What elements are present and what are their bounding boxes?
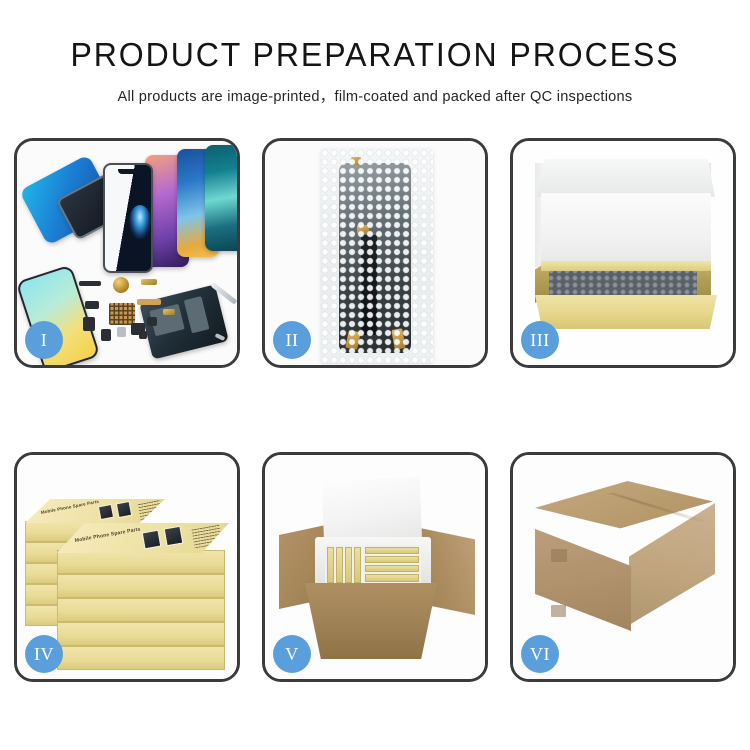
bubble-texture [321, 149, 433, 363]
stack-box-front-3 [57, 598, 225, 622]
box-thumb-rear-2 [116, 501, 133, 518]
stack-box-front-2 [57, 574, 225, 598]
step-badge-4: IV [25, 635, 63, 673]
stack-box-front-5 [57, 646, 225, 670]
camera-module [85, 301, 99, 309]
box-lid-flap [537, 159, 715, 197]
carton-tape-upper [551, 549, 567, 562]
button-cap [139, 331, 147, 339]
carton-front-face [535, 515, 631, 631]
process-step-5: V [262, 452, 488, 682]
packed-box-v-2 [336, 547, 343, 583]
packed-box-h-1 [365, 547, 419, 554]
box-thumb-rear-1 [98, 504, 114, 520]
page-subtitle: All products are image-printed，film-coat… [0, 85, 750, 106]
phone-parts-assortment-image: I [17, 141, 237, 365]
box-spec-lines-front [192, 525, 223, 549]
step-badge-6: VI [521, 635, 559, 673]
stack-box-front-1 [57, 550, 225, 574]
logic-board-chip [109, 303, 135, 325]
packed-box-v-1 [327, 547, 334, 583]
teal-wave-phone [205, 145, 237, 251]
bubble-wrap-bag [321, 149, 433, 363]
sealed-shipping-carton-image: VI [513, 455, 733, 679]
notch [118, 169, 138, 174]
step-badge-1: I [25, 321, 63, 359]
stacked-retail-boxes-image: Mobile Phone Spare Parts Mobile Phone Sp… [17, 455, 237, 679]
step-badge-5: V [273, 635, 311, 673]
packed-box-h-2 [365, 556, 419, 563]
stack-box-front-4 [57, 622, 225, 646]
product-preparation-infographic: PRODUCT PREPARATION PROCESS All products… [0, 0, 750, 750]
process-step-6: VI [510, 452, 736, 682]
taptic-coil [113, 277, 129, 293]
vibration-motor [83, 317, 95, 331]
stack-box-rear-lid: Mobile Phone Spare Parts [25, 499, 165, 523]
stack-box-front-lid: Mobile Phone Spare Parts [57, 523, 229, 553]
carton-body [305, 583, 437, 659]
packed-box-v-4 [354, 547, 361, 583]
process-step-grid: I II [14, 138, 736, 682]
packed-box-h-3 [365, 565, 419, 572]
speaker-module [79, 281, 101, 286]
header: PRODUCT PREPARATION PROCESS All products… [0, 0, 750, 106]
step-badge-3: III [521, 321, 559, 359]
box-thumb-front-1 [142, 530, 162, 550]
box-spec-lines-rear [138, 500, 163, 520]
box-print-label-rear: Mobile Phone Spare Parts [41, 499, 100, 515]
packed-box-rows [325, 545, 421, 585]
bubble-wrapped-screen-image: II [265, 141, 485, 365]
process-step-4: Mobile Phone Spare Parts Mobile Phone Sp… [14, 452, 240, 682]
front-glass-panel [103, 163, 153, 273]
metal-bracket [117, 327, 126, 337]
box-thumb-front-2 [164, 526, 184, 547]
page-title: PRODUCT PREPARATION PROCESS [11, 38, 739, 71]
packed-box-h-4 [365, 574, 419, 582]
white-foam-sheet [541, 193, 711, 271]
process-step-2: II [262, 138, 488, 368]
process-step-3: III [510, 138, 736, 368]
step-badge-2: II [273, 321, 311, 359]
small-screw-plate [147, 317, 157, 326]
flex-cable [137, 299, 161, 305]
box-rim [541, 261, 711, 271]
box-front-panel [535, 295, 717, 329]
grey-egg-crate-foam [547, 267, 705, 297]
box-print-label-front: Mobile Phone Spare Parts [74, 527, 141, 544]
foam-lined-inner-box-image: III [513, 141, 733, 365]
process-step-1: I [14, 138, 240, 368]
carton-tape-lower [551, 605, 566, 617]
sim-tray [101, 329, 111, 341]
packed-box-v-3 [345, 547, 352, 583]
carton-with-styrofoam-image: V [265, 455, 485, 679]
gold-flex-tab [163, 309, 175, 315]
gold-connector [141, 279, 157, 285]
